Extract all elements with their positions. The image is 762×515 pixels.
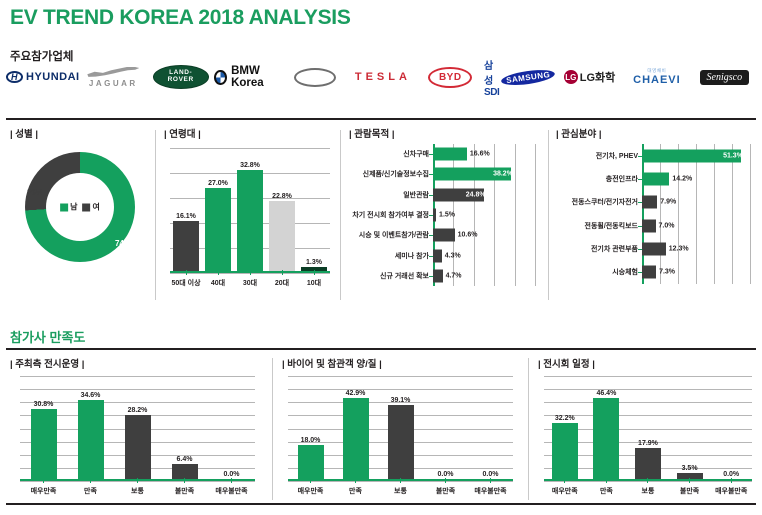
axis-tick (429, 235, 433, 236)
bar-row: 시승체험7.3% (554, 261, 756, 284)
category-label: 40대 (202, 278, 234, 288)
chart-purpose: | 관람목적 | 신차구매16.6%신제품/신기술정보수집38.2%일반관람24… (345, 126, 543, 306)
axis-tick (647, 478, 648, 483)
logo-bmw-korea: BMW Korea (214, 62, 281, 92)
bar (173, 221, 199, 271)
divider-panel-2 (340, 130, 341, 300)
category-label: 불만족 (669, 486, 711, 496)
bar-value-label: 32.2% (555, 415, 575, 422)
category-label: 매우불만족 (710, 486, 752, 496)
bar-column: 27.0% (202, 148, 234, 271)
category-label: 세미나 참가 (347, 251, 433, 261)
bar (433, 249, 442, 262)
bar (635, 448, 661, 479)
bar-column: 34.6% (67, 376, 114, 479)
bar-row: 전동스쿠터/전기자전거7.9% (554, 191, 756, 214)
bar (642, 242, 666, 255)
satisfaction-buyers-category-labels: 매우만족만족보통불만족매우불만족 (288, 486, 513, 496)
axis-tick (638, 156, 642, 157)
logo-nissan (282, 62, 349, 92)
category-label: 매우불만족 (468, 486, 513, 496)
bar-value-label: 39.1% (391, 397, 411, 404)
bar-row: 전동휠/전동킥보드7.0% (554, 214, 756, 237)
bar-row: 일반관람24.8% (347, 185, 541, 205)
bar-row: 전기차 관련부품12.3% (554, 237, 756, 260)
bar-column: 32.8% (234, 148, 266, 271)
page-title: EV TREND KOREA 2018 ANALYSIS (10, 6, 351, 30)
bar-value-label: 0.0% (438, 471, 454, 478)
bar-row: 시승 및 이벤트참가/관람10.6% (347, 225, 541, 245)
bar (125, 415, 151, 479)
bar-value-label: 3.5% (682, 465, 698, 472)
divider-panel2-2 (528, 358, 529, 500)
bar-value-label: 16.6% (470, 151, 490, 158)
section-satisfaction-title: 참가사 만족도 (10, 327, 85, 346)
divider-footer (6, 503, 756, 505)
bar-row: 신제품/신기술정보수집38.2% (347, 164, 541, 184)
bar (433, 148, 467, 161)
category-label: 매우만족 (20, 486, 67, 496)
hyundai-mark-icon: H (6, 71, 23, 83)
bar-track: 12.3% (642, 237, 756, 260)
bar-value-label: 0.0% (483, 471, 499, 478)
axis-tick (429, 174, 433, 175)
axis-tick (638, 226, 642, 227)
bar-value-label: 7.9% (660, 199, 676, 206)
bar-value-label: 38.2% (493, 171, 513, 178)
gender-legend: 남 여 (60, 202, 100, 213)
bar-row: 신규 거래선 확보4.7% (347, 266, 541, 286)
bar-column: 6.4% (161, 376, 208, 479)
bar-column: 30.8% (20, 376, 67, 479)
bar-track: 14.2% (642, 167, 756, 190)
logo-senigsco: Senigsco (691, 62, 758, 92)
axis-tick (90, 478, 91, 483)
category-label: 만족 (586, 486, 628, 496)
logo-chaevi: 대영채비 CHAEVI (623, 62, 690, 92)
bar-value-label: 30.8% (34, 401, 54, 408)
chart-satisfaction-buyers: | 바이어 및 참관객 양/질 | 18.0%42.9%39.1%0.0%0.0… (278, 356, 524, 501)
nissan-ring-icon (294, 68, 336, 87)
axis-tick (250, 270, 251, 275)
bar-value-label: 34.6% (81, 392, 101, 399)
bar-column: 39.1% (378, 376, 423, 479)
category-label: 신제품/신기술정보수집 (347, 169, 433, 179)
category-label: 매우만족 (288, 486, 333, 496)
axis-tick (429, 154, 433, 155)
axis-tick (314, 270, 315, 275)
gender-value-female: 26% (27, 188, 43, 197)
bar-row: 충전인프라14.2% (554, 167, 756, 190)
bar (433, 208, 436, 221)
bar-column: 18.0% (288, 376, 333, 479)
bar-value-label: 0.0% (224, 471, 240, 478)
bar (205, 188, 231, 271)
bar-track: 4.3% (433, 245, 541, 265)
bar-track: 38.2% (433, 164, 541, 184)
axis-tick (445, 478, 446, 483)
legend-swatch-female (83, 203, 91, 211)
bar-track: 1.5% (433, 205, 541, 225)
bar-column: 0.0% (423, 376, 468, 479)
bar (642, 219, 656, 232)
bar-column: 22.8% (266, 148, 298, 271)
category-label: 시승체험 (554, 267, 642, 277)
chart-satisfaction-operation-title: | 주최측 전시운영 | (10, 356, 268, 370)
lg-face-icon: LG (564, 70, 578, 84)
bar-value-label: 42.9% (346, 390, 366, 397)
satisfaction-buyers-plot-area: 18.0%42.9%39.1%0.0%0.0% (288, 376, 513, 481)
bar-column: 17.9% (627, 376, 669, 479)
bar-column: 0.0% (710, 376, 752, 479)
bar (388, 405, 414, 479)
axis-tick (429, 215, 433, 216)
axis-tick (689, 478, 690, 483)
category-label: 매우만족 (544, 486, 586, 496)
axis-tick (184, 478, 185, 483)
bar (172, 464, 198, 479)
category-label: 만족 (333, 486, 378, 496)
bar-value-label: 27.0% (208, 180, 228, 187)
bar-track: 24.8% (433, 185, 541, 205)
axis-tick (429, 256, 433, 257)
bar-value-label: 18.0% (301, 437, 321, 444)
bar-value-label: 28.2% (128, 407, 148, 414)
bar (31, 409, 57, 479)
divider-panel-1 (155, 130, 156, 300)
bar-value-label: 16.1% (176, 213, 196, 220)
axis-tick (310, 478, 311, 483)
logo-land-rover: LAND- ROVER (147, 62, 214, 92)
category-label: 30대 (234, 278, 266, 288)
bar-value-label: 0.0% (723, 471, 739, 478)
axis-tick (731, 478, 732, 483)
satisfaction-operation-category-labels: 매우만족만족보통불만족매우불만족 (20, 486, 255, 496)
age-plot-area: 16.1%27.0%32.8%22.8%1.3% (170, 148, 330, 273)
bar-row: 전기차, PHEV51.3% (554, 144, 756, 167)
axis-tick (429, 276, 433, 277)
chaevi-wordmark: CHAEVI (633, 74, 681, 86)
bar-value-label: 7.3% (659, 269, 675, 276)
bar-row: 세미나 참가4.3% (347, 245, 541, 265)
divider-bottom (6, 348, 756, 350)
bar-track: 7.9% (642, 191, 756, 214)
bar (593, 398, 619, 479)
category-label: 시승 및 이벤트참가/관람 (347, 230, 433, 240)
logo-jaguar: JAGUAR (80, 62, 147, 92)
bar-column: 0.0% (208, 376, 255, 479)
chart-age-title: | 연령대 | (164, 126, 335, 140)
logo-hyundai: H HYUNDAI (6, 62, 80, 92)
bar-value-label: 6.4% (177, 456, 193, 463)
chart-age: | 연령대 | 16.1%27.0%32.8%22.8%1.3% 50대 이상4… (160, 126, 335, 306)
bar (237, 170, 263, 271)
bar (269, 201, 295, 271)
samsung-ellipse-icon: SAMSUNG (501, 67, 557, 87)
gender-value-male: 74% (115, 239, 131, 248)
axis-tick (606, 478, 607, 483)
satisfaction-operation-plot-area: 30.8%34.6%28.2%6.4%0.0% (20, 376, 255, 481)
category-label: 전기차, PHEV (554, 151, 642, 161)
axis-tick (218, 270, 219, 275)
bar-value-label: 24.8% (466, 191, 486, 198)
chart-gender-title: | 성별 | (10, 126, 154, 140)
bar-column: 16.1% (170, 148, 202, 271)
chart-purpose-title: | 관람목적 | (349, 126, 543, 140)
axis-tick (429, 195, 433, 196)
axis-tick (355, 478, 356, 483)
bar-column: 32.2% (544, 376, 586, 479)
age-category-labels: 50대 이상40대30대20대10대 (170, 278, 330, 288)
category-label: 차기 전시회 참가여부 결정 (347, 210, 433, 220)
samsung-sdi-wordmark: 삼성SDI (484, 57, 499, 98)
bar (642, 266, 656, 279)
logo-tesla: TESLA (349, 62, 416, 92)
legend-swatch-male (60, 203, 68, 211)
interest-plot-area: 전기차, PHEV51.3%충전인프라14.2%전동스쿠터/전기자전거7.9%전… (554, 144, 756, 284)
bar-column: 42.9% (333, 376, 378, 479)
axis-tick (282, 270, 283, 275)
bar-value-label: 4.3% (445, 252, 461, 259)
purpose-plot-area: 신차구매16.6%신제품/신기술정보수집38.2%일반관람24.8%차기 전시회… (347, 144, 541, 286)
category-label: 신차구매 (347, 149, 433, 159)
axis-tick (137, 478, 138, 483)
bar-row: 신차구매16.6% (347, 144, 541, 164)
jaguar-wordmark: JAGUAR (87, 79, 139, 88)
bar (433, 269, 443, 282)
category-label: 전동스쿠터/전기자전거 (554, 197, 642, 207)
land-rover-oval-icon: LAND- ROVER (153, 65, 209, 89)
bar (433, 229, 455, 242)
category-label: 일반관람 (347, 190, 433, 200)
axis-tick (231, 478, 232, 483)
axis-tick (638, 272, 642, 273)
legend-label-male: 남 (70, 202, 77, 213)
category-label: 불만족 (423, 486, 468, 496)
chart-gender: | 성별 | 남 여 74% 26% (6, 126, 154, 306)
bar (343, 398, 369, 479)
chart-satisfaction-operation: | 주최측 전시운영 | 30.8%34.6%28.2%6.4%0.0% 매우만… (6, 356, 268, 501)
bar-value-label: 46.4% (596, 390, 616, 397)
senigsco-wordmark: Senigsco (700, 70, 750, 85)
axis-tick (638, 179, 642, 180)
chart-satisfaction-schedule-title: | 전시회 일정 | (538, 356, 758, 370)
jaguar-leaper-icon (87, 67, 139, 78)
chart-interest-title: | 관심분야 | (556, 126, 758, 140)
bar (298, 445, 324, 479)
bar-track: 51.3% (642, 144, 756, 167)
satisfaction-schedule-category-labels: 매우만족만족보통불만족매우불만족 (544, 486, 752, 496)
category-label: 50대 이상 (170, 278, 202, 288)
satisfaction-schedule-plot-area: 32.2%46.4%17.9%3.5%0.0% (544, 376, 752, 481)
bar (642, 196, 657, 209)
tesla-wordmark: TESLA (355, 71, 411, 83)
divider-panel-3 (548, 130, 549, 300)
category-label: 10대 (298, 278, 330, 288)
category-label: 만족 (67, 486, 114, 496)
land-rover-line2: ROVER (168, 77, 194, 84)
bar-row: 차기 전시회 참가여부 결정1.5% (347, 205, 541, 225)
bar-column: 46.4% (586, 376, 628, 479)
logo-byd: BYD (417, 62, 484, 92)
axis-tick (638, 249, 642, 250)
axis-tick (564, 478, 565, 483)
bar-value-label: 22.8% (272, 193, 292, 200)
lg-chem-wordmark: LG화학 (580, 69, 616, 85)
hyundai-wordmark: HYUNDAI (26, 71, 80, 83)
category-label: 전동휠/전동킥보드 (554, 221, 642, 231)
bar-value-label: 17.9% (638, 440, 658, 447)
divider-top (6, 118, 756, 120)
bar-column: 28.2% (114, 376, 161, 479)
category-label: 신규 거래선 확보 (347, 271, 433, 281)
chart-satisfaction-schedule: | 전시회 일정 | 32.2%46.4%17.9%3.5%0.0% 매우만족만… (534, 356, 758, 501)
chart-satisfaction-buyers-title: | 바이어 및 참관객 양/질 | (282, 356, 524, 370)
bar-value-label: 1.3% (306, 259, 322, 266)
axis-tick (186, 270, 187, 275)
bar-track: 4.7% (433, 266, 541, 286)
bar-value-label: 1.5% (439, 211, 455, 218)
category-label: 전기차 관련부품 (554, 244, 642, 254)
chart-interest: | 관심분야 | 전기차, PHEV51.3%충전인프라14.2%전동스쿠터/전… (552, 126, 758, 306)
gender-donut: 남 여 74% 26% (25, 152, 135, 262)
category-label: 충전인프라 (554, 174, 642, 184)
axis-tick (400, 478, 401, 483)
bar-value-label: 4.7% (446, 272, 462, 279)
category-label: 매우불만족 (208, 486, 255, 496)
category-label: 보통 (627, 486, 669, 496)
category-label: 불만족 (161, 486, 208, 496)
bar-track: 7.0% (642, 214, 756, 237)
axis-tick (43, 478, 44, 483)
exhibitor-logo-strip: H HYUNDAI JAGUAR LAND- ROVER BMW Korea T… (6, 62, 758, 92)
axis-tick (490, 478, 491, 483)
bar-value-label: 10.6% (458, 232, 478, 239)
logo-samsung-sdi: 삼성SDI SAMSUNG (484, 62, 556, 92)
category-label: 보통 (378, 486, 423, 496)
bar (552, 423, 578, 479)
bar-value-label: 7.0% (659, 222, 675, 229)
category-label: 20대 (266, 278, 298, 288)
axis-tick (638, 202, 642, 203)
bar (642, 172, 669, 185)
bar-value-label: 32.8% (240, 162, 260, 169)
byd-wordmark: BYD (428, 67, 472, 88)
legend-label-female: 여 (93, 202, 100, 213)
bar-column: 1.3% (298, 148, 330, 271)
bar-value-label: 51.3% (723, 152, 743, 159)
bar-value-label: 12.3% (669, 245, 689, 252)
bar-track: 7.3% (642, 261, 756, 284)
bar-column: 3.5% (669, 376, 711, 479)
bar-track: 10.6% (433, 225, 541, 245)
divider-panel2-1 (272, 358, 273, 500)
logo-lg-chem: LG LG화학 (556, 62, 623, 92)
bar (78, 400, 104, 479)
bar-column: 0.0% (468, 376, 513, 479)
bmw-wordmark: BMW Korea (231, 65, 282, 89)
bar-value-label: 14.2% (672, 175, 692, 182)
category-label: 보통 (114, 486, 161, 496)
bmw-roundel-icon (214, 70, 227, 85)
bar-track: 16.6% (433, 144, 541, 164)
